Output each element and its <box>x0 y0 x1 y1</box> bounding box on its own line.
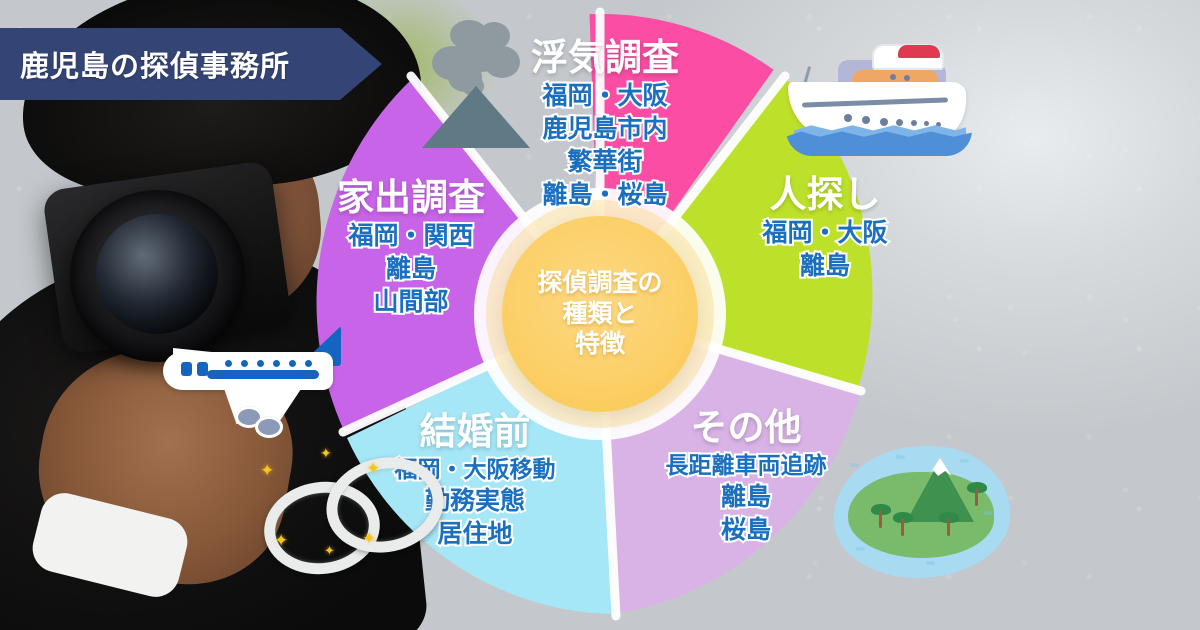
infographic-canvas: 鹿児島の探偵事務所 探偵調査の <box>0 0 1200 630</box>
wedding-rings-icon: ✦ ✦ ✦ ✦ ✦ ✦ <box>258 444 428 570</box>
hub-line-3: 特徴 <box>575 329 625 360</box>
volcano-icon <box>410 18 540 148</box>
hub-line-2: 種類と <box>562 299 637 330</box>
tropical-island-icon: ≈≈ ≈≈ ≈≈ ≈≈ ≈≈ ≈≈ <box>834 446 1010 578</box>
donut-center-hub: 探偵調査の 種類と 特徴 <box>502 216 698 412</box>
hub-line-1: 探偵調査の <box>537 268 662 299</box>
airplane-icon <box>155 322 345 440</box>
page-title: 鹿児島の探偵事務所 <box>0 43 290 85</box>
cruise-ship-icon <box>786 44 976 164</box>
